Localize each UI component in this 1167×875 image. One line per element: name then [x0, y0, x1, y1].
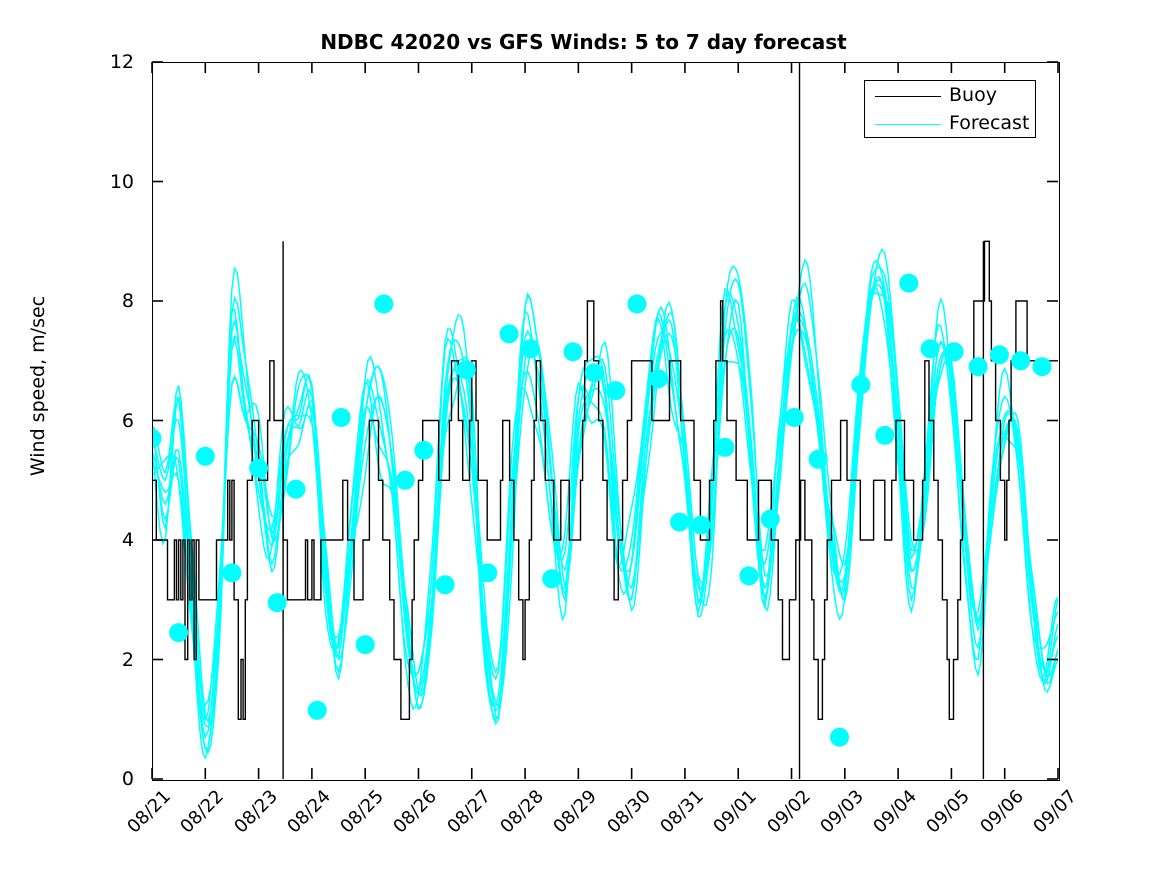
- forecast-marker: [1011, 351, 1030, 370]
- x-tick-label: 08/25: [322, 786, 388, 852]
- y-axis-tick-labels: 024681012: [86, 62, 134, 779]
- forecast-marker: [691, 516, 710, 535]
- y-tick-label: 12: [90, 51, 134, 73]
- buoy-line-group: [152, 62, 1058, 779]
- forecast-marker: [1033, 357, 1052, 376]
- forecast-marker: [169, 623, 188, 642]
- legend-item[interactable]: Forecast: [865, 110, 1037, 139]
- forecast-marker: [436, 575, 455, 594]
- x-tick-label: 08/23: [216, 786, 282, 852]
- forecast-marker: [542, 569, 561, 588]
- x-tick-label: 09/02: [749, 786, 815, 852]
- forecast-markers-group: [152, 274, 1052, 747]
- forecast-marker: [945, 342, 964, 361]
- forecast-marker: [921, 339, 940, 358]
- x-tick-label: 08/24: [269, 786, 335, 852]
- forecast-marker: [308, 701, 327, 720]
- y-axis-title-wrap: Wind speed, m/sec: [0, 0, 1, 1]
- y-tick-label: 6: [90, 410, 134, 432]
- x-tick-label: 08/27: [429, 786, 495, 852]
- y-tick-label: 4: [90, 529, 134, 551]
- forecast-marker: [969, 357, 988, 376]
- forecast-marker: [606, 381, 625, 400]
- x-tick-label: 09/01: [695, 786, 761, 852]
- forecast-marker: [196, 447, 215, 466]
- plot-svg: [152, 62, 1058, 779]
- forecast-marker: [500, 324, 519, 343]
- x-tick-label: 08/26: [376, 786, 442, 852]
- forecast-marker: [990, 345, 1009, 364]
- y-tick-label: 0: [90, 768, 134, 790]
- x-tick-label: 09/05: [908, 786, 974, 852]
- x-tick-label: 08/21: [109, 786, 175, 852]
- plot-area: [152, 62, 1058, 779]
- legend-label: Forecast: [949, 112, 1029, 134]
- forecast-marker: [585, 363, 604, 382]
- x-tick-label: 09/06: [962, 786, 1028, 852]
- legend-label: Buoy: [949, 84, 997, 106]
- forecast-marker: [628, 295, 647, 314]
- forecast-marker: [249, 459, 268, 478]
- x-tick-label: 08/22: [162, 786, 228, 852]
- forecast-marker: [414, 441, 433, 460]
- forecast-marker: [222, 563, 241, 582]
- x-tick-label: 09/07: [1015, 786, 1081, 852]
- forecast-marker: [478, 563, 497, 582]
- forecast-marker: [457, 360, 476, 379]
- legend-line-swatch: [875, 124, 941, 125]
- chart-figure: NDBC 42020 vs GFS Winds: 5 to 7 day fore…: [0, 0, 1167, 875]
- chart-legend: BuoyForecast: [864, 80, 1036, 138]
- x-tick-label: 09/03: [802, 786, 868, 852]
- y-tick-label: 8: [90, 290, 134, 312]
- forecast-marker: [739, 566, 758, 585]
- forecast-marker: [670, 513, 689, 532]
- legend-item[interactable]: Buoy: [865, 82, 1037, 111]
- x-tick-label: 09/04: [855, 786, 921, 852]
- forecast-marker: [851, 375, 870, 394]
- forecast-marker: [286, 480, 305, 499]
- x-tick-label: 08/28: [482, 786, 548, 852]
- forecast-marker: [374, 295, 393, 314]
- legend-line-swatch: [875, 96, 941, 97]
- forecast-marker: [521, 339, 540, 358]
- forecast-marker: [332, 408, 351, 427]
- forecast-marker: [396, 471, 415, 490]
- y-tick-label: 10: [90, 171, 134, 193]
- y-axis-title: Wind speed, m/sec: [27, 86, 49, 686]
- chart-title: NDBC 42020 vs GFS Winds: 5 to 7 day fore…: [0, 30, 1167, 54]
- forecast-marker: [785, 408, 804, 427]
- forecast-marker: [356, 635, 375, 654]
- x-tick-label: 08/31: [642, 786, 708, 852]
- y-tick-label: 2: [90, 649, 134, 671]
- buoy-line: [152, 241, 1058, 719]
- forecast-marker: [875, 426, 894, 445]
- forecast-marker: [564, 342, 583, 361]
- forecast-marker: [830, 728, 849, 747]
- forecast-marker: [268, 593, 287, 612]
- forecast-marker: [761, 510, 780, 529]
- x-tick-label: 08/30: [589, 786, 655, 852]
- forecast-marker: [809, 450, 828, 469]
- x-axis-tick-labels: 08/2108/2208/2308/2408/2508/2608/2708/28…: [152, 786, 1058, 866]
- forecast-marker: [649, 369, 668, 388]
- forecast-marker: [152, 429, 162, 448]
- forecast-marker: [715, 438, 734, 457]
- forecast-marker: [899, 274, 918, 293]
- x-tick-label: 08/29: [535, 786, 601, 852]
